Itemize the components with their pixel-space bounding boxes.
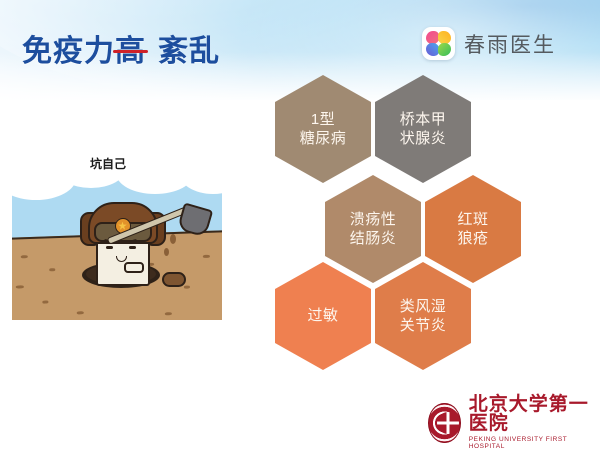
eye-right [129,246,136,249]
falling-dirt-1 [170,234,176,244]
hex-label-line: 过敏 [307,306,338,325]
title-segment-1: 免疫力 [22,35,115,68]
presentation-slide: 免疫力高紊乱 春雨医生 [0,0,600,452]
petal-bottom-right [438,43,451,56]
character-arm [124,262,144,273]
illustration-caption: 坑自己 [90,155,126,172]
falling-dirt-2 [164,248,169,256]
hex-label-line: 红斑 [457,210,488,229]
hex-label-line: 狼疮 [457,229,488,248]
dirt-clump [162,272,186,287]
hex-label-line: 溃疡性 [350,210,397,229]
hex-label-line: 关节炎 [400,316,447,335]
brand-name: 春雨医生 [464,29,556,59]
hospital-name-en: PEKING UNIVERSITY FIRST HOSPITAL [469,437,600,450]
chunyu-flower-icon [422,27,455,60]
hex-label-line: 类风湿 [400,297,447,316]
hex-ulcerative-colitis[interactable]: 溃疡性结肠炎 [325,175,421,283]
slide-title: 免疫力高紊乱 [22,26,220,70]
title-segment-2: 紊乱 [158,35,220,68]
hexagon-diagram: 1型糖尿病桥本甲状腺炎溃疡性结肠炎红斑狼疮过敏类风湿关节炎 [262,62,522,372]
hex-label-line: 桥本甲 [400,110,447,129]
hospital-seal-icon [428,403,461,443]
hex-label-line: 1型 [311,110,335,129]
hex-label-line: 结肠炎 [350,229,397,248]
hospital-logo: 北京大学第一医院 PEKING UNIVERSITY FIRST HOSPITA… [428,395,600,450]
eye-left [106,246,113,249]
hex-type1-diabetes[interactable]: 1型糖尿病 [275,75,371,183]
hex-allergy[interactable]: 过敏 [275,262,371,370]
hex-rheumatoid-arthritis[interactable]: 类风湿关节炎 [375,262,471,370]
hex-label-line: 糖尿病 [300,129,347,148]
hex-hashimoto-thyroiditis[interactable]: 桥本甲状腺炎 [375,75,471,183]
brand-logo: 春雨医生 [422,27,556,60]
hex-label-line: 状腺炎 [400,129,447,148]
hex-lupus-erythematosus[interactable]: 红斑狼疮 [425,175,521,283]
title-strikethrough-word: 高 [115,26,146,70]
illustration-dig-hole [12,178,222,320]
hospital-name-cn: 北京大学第一医院 [469,395,600,433]
